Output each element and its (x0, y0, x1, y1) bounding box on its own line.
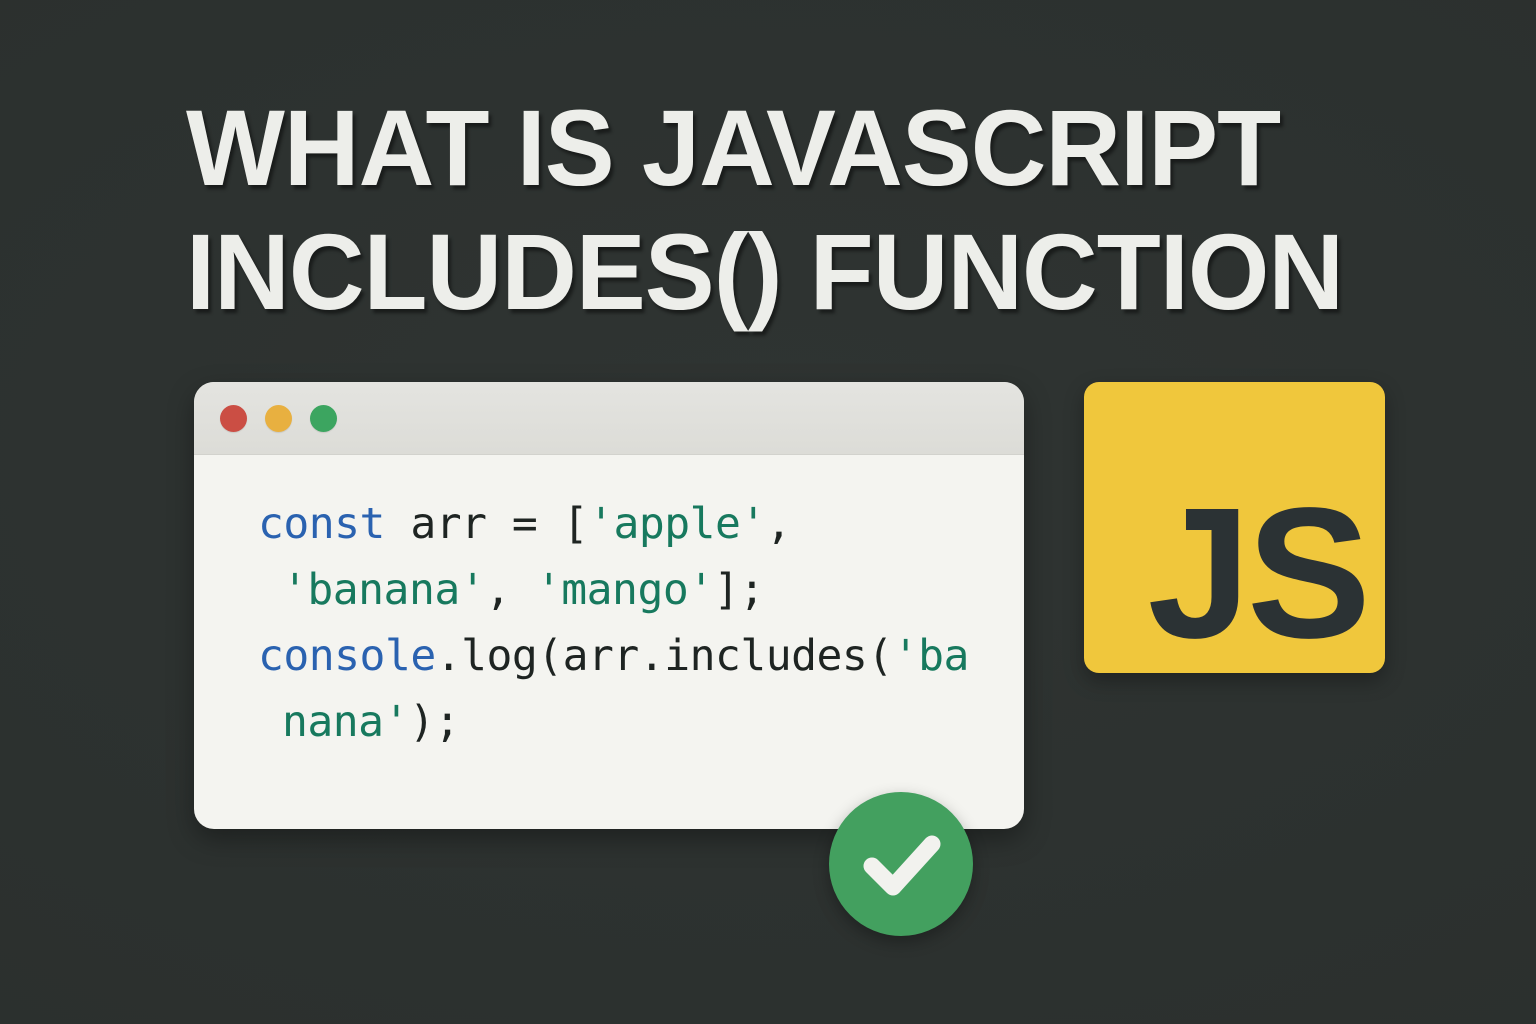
poster-canvas: WHAT IS JAVASCRIPT INCLUDES() FUNCTION c… (0, 0, 1536, 1024)
code-snippet: const arr = ['apple', 'banana', 'mango']… (258, 491, 994, 755)
page-title-line-2: INCLUDES() FUNCTION (186, 210, 1350, 334)
code-token: ); (409, 697, 460, 747)
code-line: const arr = ['apple', 'banana', 'mango']… (258, 491, 994, 623)
javascript-logo: JS (1084, 382, 1385, 673)
code-token: , (766, 499, 817, 549)
maximize-dot[interactable] (310, 405, 337, 432)
checkmark-icon (829, 792, 973, 936)
code-window: const arr = ['apple', 'banana', 'mango']… (194, 382, 1024, 829)
javascript-logo-label: JS (1147, 481, 1367, 667)
code-token: 'apple' (588, 499, 766, 549)
code-token: .log(arr.includes( (436, 631, 893, 681)
code-token: arr = [ (385, 499, 588, 549)
page-title: WHAT IS JAVASCRIPT INCLUDES() FUNCTION (186, 86, 1386, 334)
code-token: console (258, 631, 436, 681)
code-body: const arr = ['apple', 'banana', 'mango']… (194, 455, 1024, 755)
code-token: ]; (714, 565, 765, 615)
code-token: const (258, 499, 385, 549)
code-line: console.log(arr.includes('banana'); (258, 623, 994, 755)
code-window-title-bar (194, 382, 1024, 455)
success-badge (829, 792, 973, 936)
window-controls (220, 405, 337, 432)
code-token: 'mango' (536, 565, 714, 615)
minimize-dot[interactable] (265, 405, 292, 432)
code-token: 'banana' (282, 565, 485, 615)
code-token: , (485, 565, 536, 615)
page-title-line-1: WHAT IS JAVASCRIPT (186, 86, 1350, 210)
close-dot[interactable] (220, 405, 247, 432)
